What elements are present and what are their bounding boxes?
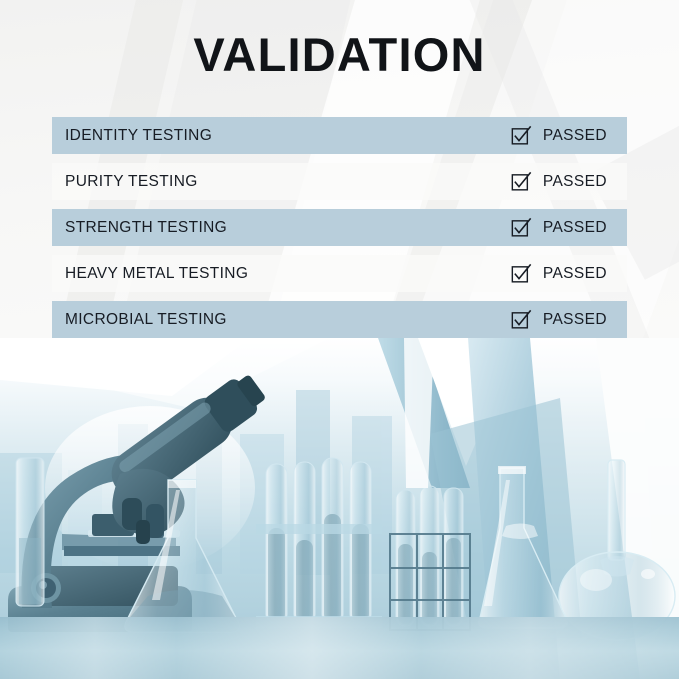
status-badge: PASSED: [543, 219, 607, 237]
test-tube-rack-small-icon: [390, 486, 470, 630]
checkbox-checked-icon[interactable]: [511, 310, 531, 330]
row-label: PURITY TESTING: [52, 173, 198, 191]
bench-reflection: [0, 617, 679, 679]
table-row[interactable]: STRENGTH TESTING PASSED: [52, 209, 627, 246]
row-status: PASSED: [511, 264, 627, 284]
status-badge: PASSED: [543, 265, 607, 283]
checkbox-checked-icon[interactable]: [511, 218, 531, 238]
table-row[interactable]: IDENTITY TESTING PASSED: [52, 117, 627, 154]
status-badge: PASSED: [543, 173, 607, 191]
checkbox-checked-icon[interactable]: [511, 172, 531, 192]
row-status: PASSED: [511, 310, 627, 330]
row-status: PASSED: [511, 126, 627, 146]
page-title: VALIDATION: [0, 27, 679, 83]
row-label: IDENTITY TESTING: [52, 127, 212, 145]
checkbox-checked-icon[interactable]: [511, 264, 531, 284]
validation-table: IDENTITY TESTING PASSED PURITY TESTING P…: [52, 117, 627, 347]
table-row[interactable]: PURITY TESTING PASSED: [52, 163, 627, 200]
checkbox-checked-icon[interactable]: [511, 126, 531, 146]
row-label: MICROBIAL TESTING: [52, 311, 227, 329]
laboratory-photo: [0, 338, 679, 679]
table-row[interactable]: HEAVY METAL TESTING PASSED: [52, 255, 627, 292]
table-row[interactable]: MICROBIAL TESTING PASSED: [52, 301, 627, 338]
status-badge: PASSED: [543, 311, 607, 329]
row-status: PASSED: [511, 172, 627, 192]
row-status: PASSED: [511, 218, 627, 238]
row-label: HEAVY METAL TESTING: [52, 265, 248, 283]
graduated-cylinder-icon: [16, 458, 44, 606]
validation-infographic: VALIDATION IDENTITY TESTING PASSED PURIT…: [0, 0, 679, 679]
row-label: STRENGTH TESTING: [52, 219, 227, 237]
status-badge: PASSED: [543, 127, 607, 145]
